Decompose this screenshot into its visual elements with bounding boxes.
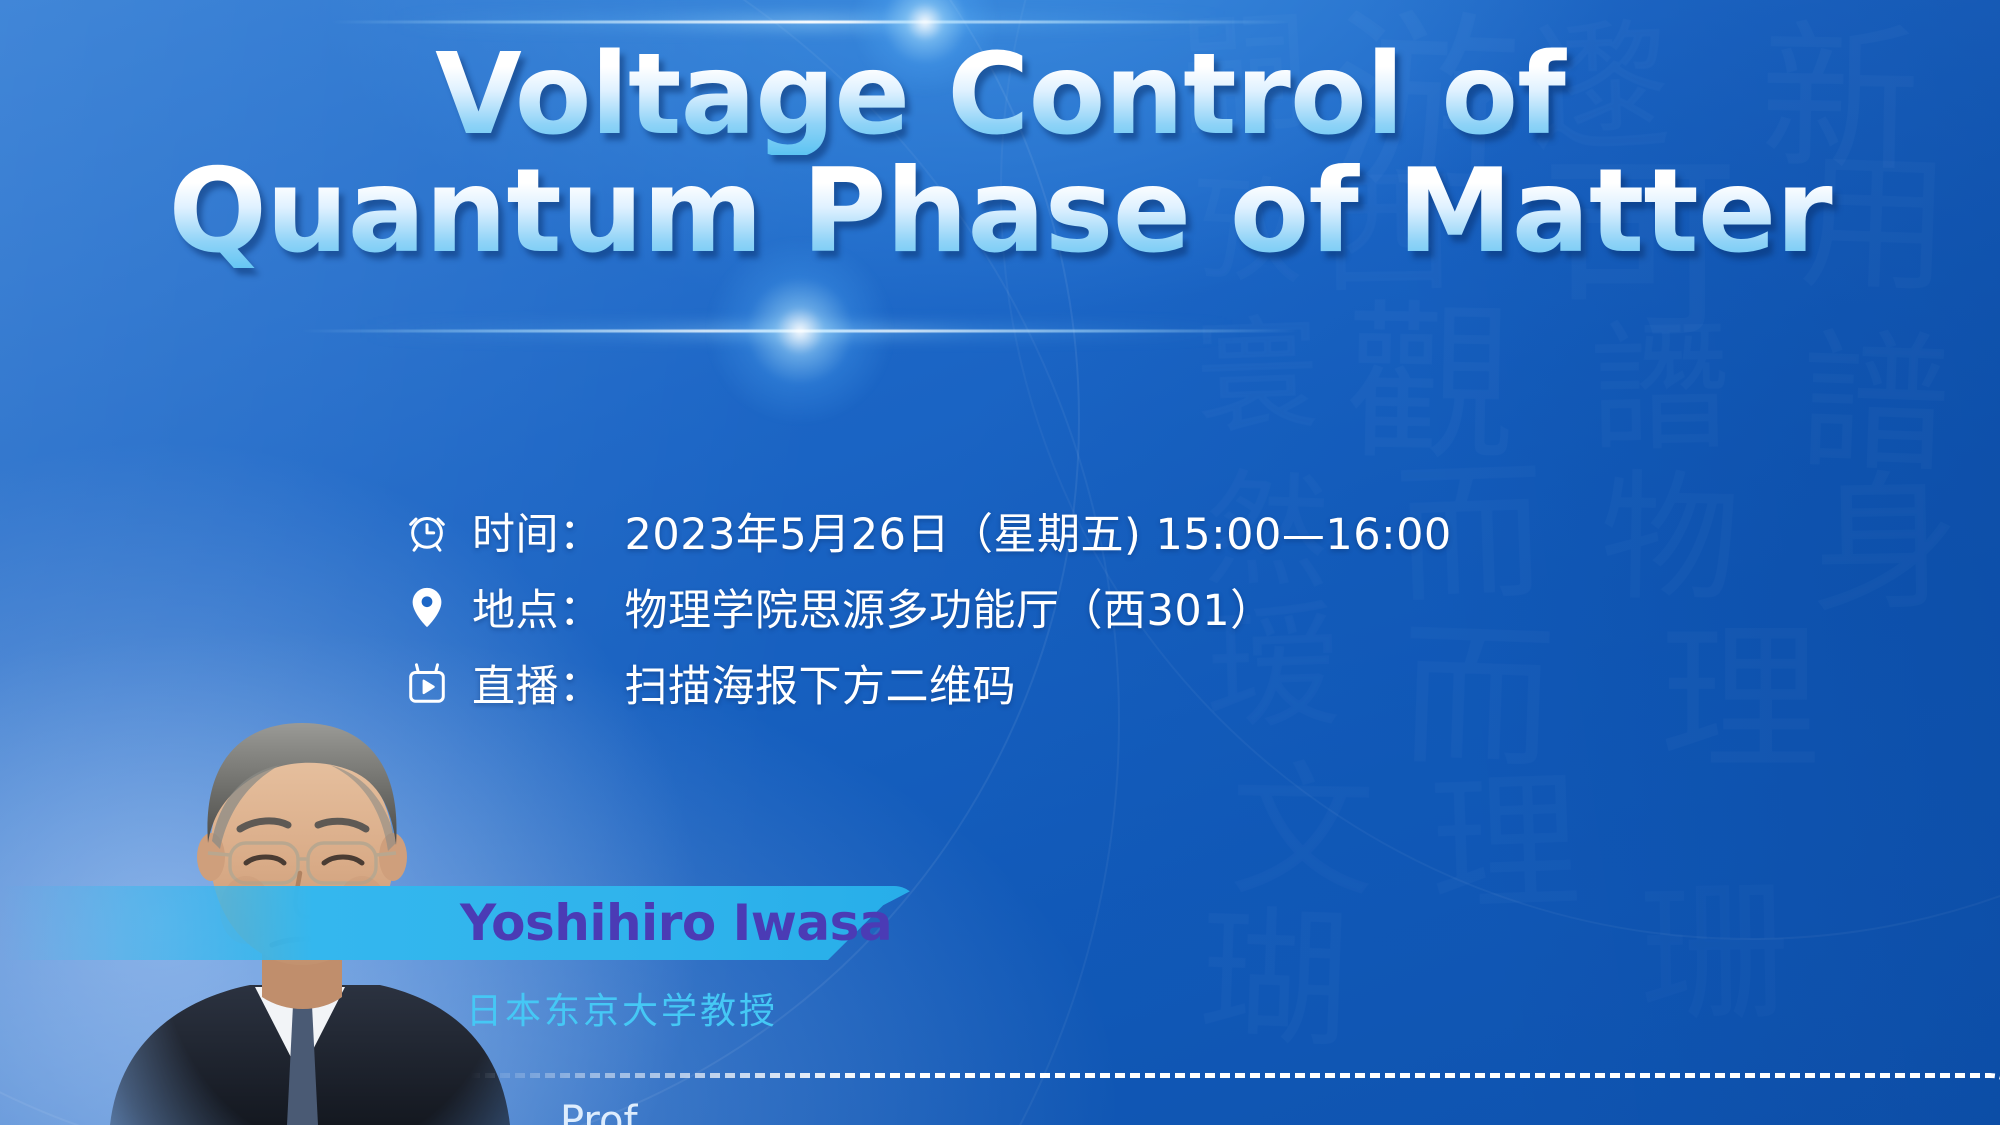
speaker-name-banner: Yoshihiro Iwasa — [0, 886, 920, 960]
light-streak-middle — [300, 303, 1300, 359]
speaker-block: Yoshihiro Iwasa 日本东京大学教授 — [0, 886, 2000, 1034]
poster-title: Voltage Control of Quantum Phase of Matt… — [0, 36, 2000, 274]
bio-dashed-border — [470, 1073, 2000, 1125]
event-livestream-label: 直播： — [472, 652, 603, 714]
decorative-glyph: 物 — [1599, 469, 1741, 611]
decorative-glyph: 譖 — [1589, 319, 1731, 461]
event-location-label: 地点： — [472, 576, 603, 638]
speaker-affiliation: 日本东京大学教授 — [466, 982, 2000, 1034]
decorative-glyph: 觀 — [1344, 299, 1517, 472]
event-detail-time: 时间： 2023年5月26日（星期五) 15:00—16:00 — [404, 500, 1452, 562]
live-video-icon — [404, 660, 450, 706]
decorative-glyph: 寰 — [1193, 313, 1322, 442]
speaker-name: Yoshihiro Iwasa — [460, 886, 892, 960]
decorative-glyph: 理 — [1660, 620, 1820, 780]
event-detail-location: 地点： 物理学院思源多功能厅（西301） — [404, 576, 1452, 638]
map-pin-icon — [404, 584, 450, 630]
decorative-glyph: 譜 — [1797, 327, 1952, 482]
event-details: 时间： 2023年5月26日（星期五) 15:00—16:00 地点： 物理学院… — [404, 500, 1452, 714]
title-line-1: Voltage Control of — [90, 36, 1910, 155]
decorative-glyph: 文 — [1229, 759, 1377, 907]
decorative-glyph: 身 — [1809, 469, 1962, 622]
event-time-value: 2023年5月26日（星期五) 15:00—16:00 — [625, 500, 1452, 562]
event-detail-livestream: 直播： 扫描海报下方二维码 — [404, 652, 1452, 714]
title-line-2: Quantum Phase of Matter — [90, 151, 1910, 274]
event-livestream-value: 扫描海报下方二维码 — [625, 652, 1017, 714]
event-location-value: 物理学院思源多功能厅（西301） — [625, 576, 1274, 638]
speaker-bio-excerpt: Prof — [560, 1098, 638, 1125]
event-time-label: 时间： — [472, 500, 603, 562]
seminar-poster: 嗣游邌新攷西可用寰觀譖譜然而物身瑷而理文理瑚珊 Voltage Control … — [0, 0, 2000, 1125]
alarm-clock-icon — [404, 508, 450, 554]
